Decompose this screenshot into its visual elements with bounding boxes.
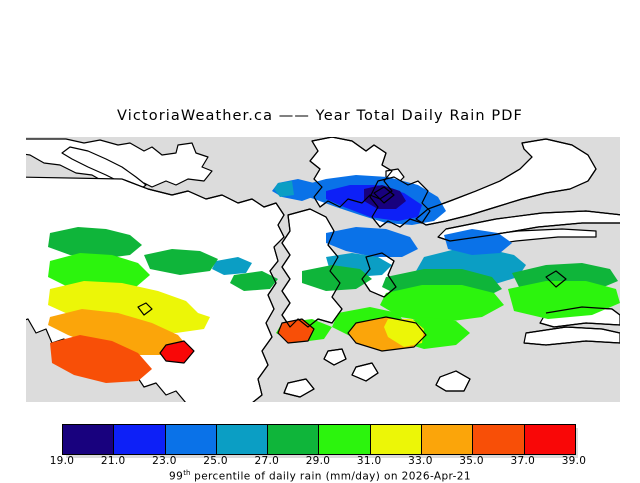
colorbar-segment-35.0-37.0[interactable] (473, 425, 524, 454)
contour-map[interactable] (26, 137, 620, 402)
colorbar-segment-23.0-25.0[interactable] (166, 425, 217, 454)
colorbar-tick-35.0: 35.0 (452, 455, 492, 467)
map-panel[interactable] (26, 137, 620, 402)
colorbar-segment-37.0-39.0[interactable] (525, 425, 575, 454)
colorbar-segment-33.0-35.0[interactable] (422, 425, 473, 454)
page-title: VictoriaWeather.ca —— Year Total Daily R… (0, 108, 640, 124)
colorbar-tick-37.0: 37.0 (503, 455, 543, 467)
colorbar-tick-19.0: 19.0 (42, 455, 82, 467)
colorbar-tick-21.0: 21.0 (93, 455, 133, 467)
caption-prefix: 99 (169, 471, 183, 483)
colorbar-tick-labels: 19.021.023.025.027.029.031.033.035.037.0… (0, 455, 640, 469)
colorbar-segment-29.0-31.0[interactable] (319, 425, 370, 454)
colorbar-segment-31.0-33.0[interactable] (371, 425, 422, 454)
caption-suffix: percentile of daily rain (mm/day) on 202… (190, 471, 471, 483)
colorbar-tick-27.0: 27.0 (247, 455, 287, 467)
colorbar-tick-29.0: 29.0 (298, 455, 338, 467)
colorbar-tick-39.0: 39.0 (554, 455, 594, 467)
colorbar-tick-23.0: 23.0 (144, 455, 184, 467)
colorbar-segment-25.0-27.0[interactable] (217, 425, 268, 454)
colorbar-tick-25.0: 25.0 (196, 455, 236, 467)
colorbar-tick-31.0: 31.0 (349, 455, 389, 467)
colorbar-segment-21.0-23.0[interactable] (114, 425, 165, 454)
colorbar-segment-19.0-21.0[interactable] (63, 425, 114, 454)
colorbar-tick-33.0: 33.0 (400, 455, 440, 467)
colorbar[interactable] (62, 424, 576, 455)
colorbar-section: 19.021.023.025.027.029.031.033.035.037.0… (0, 418, 640, 480)
screenshot-root: VictoriaWeather.ca —— Year Total Daily R… (0, 0, 640, 480)
colorbar-segment-27.0-29.0[interactable] (268, 425, 319, 454)
colorbar-caption: 99th percentile of daily rain (mm/day) o… (0, 469, 640, 483)
